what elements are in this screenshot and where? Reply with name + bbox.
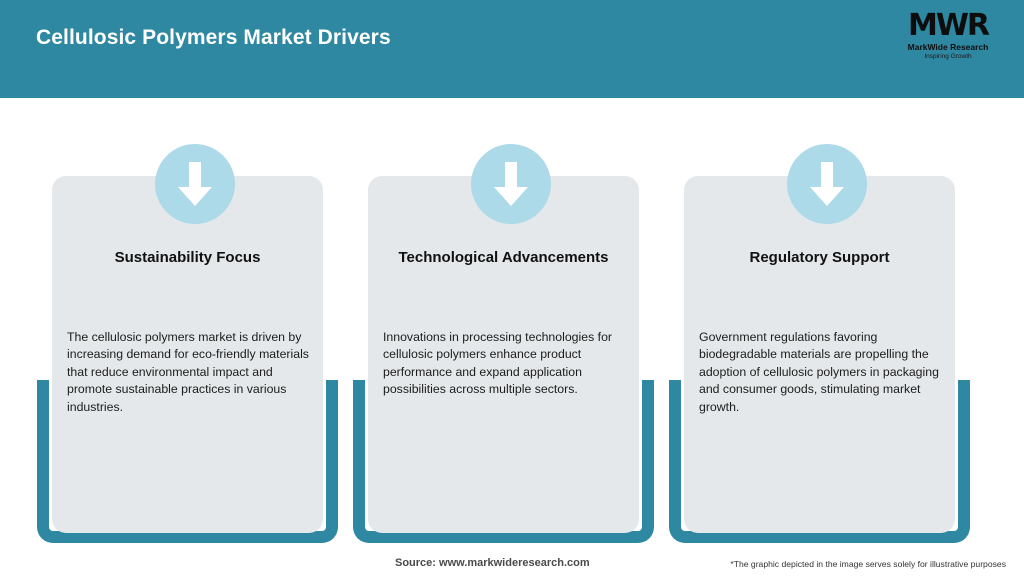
arrow-down-icon bbox=[155, 144, 235, 224]
card-description: Innovations in processing technologies f… bbox=[383, 329, 633, 399]
driver-card: Sustainability Focus The cellulosic poly… bbox=[37, 144, 353, 544]
card-description: The cellulosic polymers market is driven… bbox=[67, 329, 317, 416]
source-label: Source: www.markwideresearch.com bbox=[395, 557, 590, 569]
disclaimer-note: *The graphic depicted in the image serve… bbox=[730, 559, 1006, 569]
driver-cards-container: Sustainability Focus The cellulosic poly… bbox=[0, 0, 1024, 576]
card-title: Sustainability Focus bbox=[52, 249, 323, 267]
card-description: Government regulations favoring biodegra… bbox=[699, 329, 949, 416]
driver-card: Regulatory Support Government regulation… bbox=[669, 144, 985, 544]
arrow-down-icon bbox=[787, 144, 867, 224]
card-title: Technological Advancements bbox=[368, 249, 639, 267]
card-title: Regulatory Support bbox=[684, 249, 955, 267]
arrow-down-icon bbox=[471, 144, 551, 224]
driver-card: Technological Advancements Innovations i… bbox=[353, 144, 669, 544]
